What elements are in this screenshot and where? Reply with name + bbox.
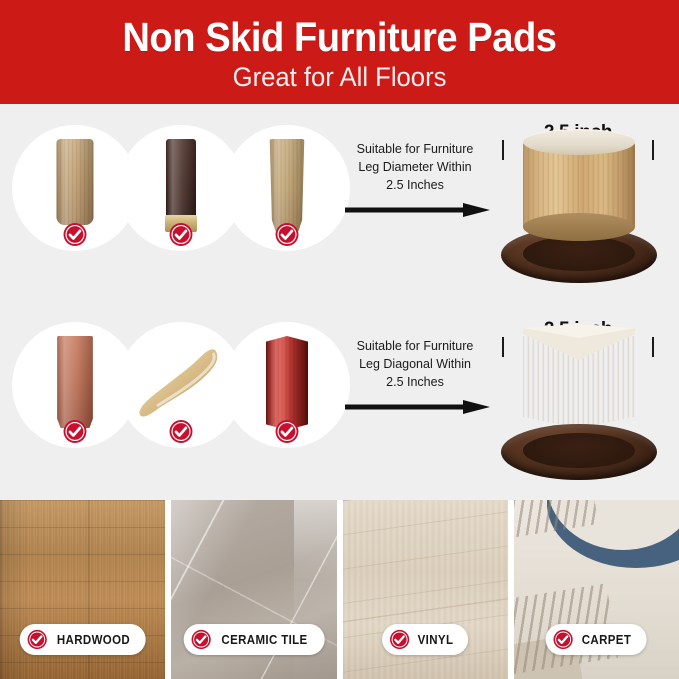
- square-leg-row: Suitable for Furniture Leg Diagonal With…: [0, 316, 679, 491]
- round-leg-row: Suitable for Furniture Leg Diameter With…: [0, 119, 679, 294]
- check-badge-icon: [169, 222, 194, 247]
- round-pad-product-image: 2.5 inch: [483, 119, 673, 289]
- round-leg-caption: Suitable for Furniture Leg Diameter With…: [340, 141, 490, 194]
- square-leg-top-surface: [523, 324, 635, 360]
- check-badge-icon: [275, 419, 300, 444]
- check-badge-icon: [389, 629, 410, 650]
- caption-line: 2.5 Inches: [340, 177, 490, 195]
- floor-label-vinyl: VINYL: [382, 624, 468, 655]
- floor-panel-carpet[interactable]: CARPET: [514, 500, 679, 679]
- floor-types-strip: HARDWOOD CERAMIC TILE VINYL: [0, 500, 679, 679]
- header-banner: Non Skid Furniture Pads Great for All Fl…: [0, 0, 679, 104]
- check-badge-icon: [191, 629, 212, 650]
- caption-line: Leg Diameter Within: [340, 159, 490, 177]
- floor-label-hardwood: HARDWOOD: [19, 624, 146, 655]
- measure-tick-left: [502, 140, 504, 160]
- oak-round-leg-image: [57, 139, 94, 225]
- floor-panel-vinyl[interactable]: VINYL: [343, 500, 508, 679]
- floor-panel-ceramic-tile[interactable]: CERAMIC TILE: [171, 500, 336, 679]
- leg-thumbnail-deep-red-hex[interactable]: [224, 322, 350, 448]
- caption-line: Suitable for Furniture: [340, 141, 490, 159]
- check-badge-icon: [553, 629, 574, 650]
- page-subtitle: Great for All Floors: [233, 63, 447, 93]
- check-badge-icon: [169, 419, 194, 444]
- caption-line: Suitable for Furniture: [340, 338, 490, 356]
- floor-label-text: CARPET: [582, 633, 631, 647]
- check-badge-icon: [63, 419, 88, 444]
- measure-tick-right: [652, 140, 654, 160]
- measure-tick-right: [652, 337, 654, 357]
- square-leg-caption: Suitable for Furniture Leg Diagonal With…: [340, 338, 490, 391]
- arrow-right-icon: [345, 203, 490, 217]
- floor-label-text: CERAMIC TILE: [221, 633, 307, 647]
- deep-red-hex-leg-image: [266, 336, 308, 430]
- check-badge-icon: [63, 222, 88, 247]
- leg-thumbnail-tapered-oak[interactable]: [224, 125, 350, 251]
- caption-line: Leg Diagonal Within: [340, 356, 490, 374]
- measure-tick-left: [502, 337, 504, 357]
- floor-label-text: VINYL: [418, 633, 454, 647]
- curved-cabriole-leg-image: [135, 344, 227, 430]
- check-badge-icon: [26, 629, 47, 650]
- floor-label-ceramic-tile: CERAMIC TILE: [184, 624, 325, 655]
- floor-label-text: HARDWOOD: [57, 633, 130, 647]
- furniture-pad-disc: [501, 424, 657, 480]
- compatibility-section: Suitable for Furniture Leg Diameter With…: [0, 104, 679, 500]
- arrow-right-icon: [345, 400, 490, 414]
- page-title: Non Skid Furniture Pads: [122, 16, 556, 59]
- check-badge-icon: [275, 222, 300, 247]
- floor-panel-hardwood[interactable]: HARDWOOD: [0, 500, 165, 679]
- tapered-oak-leg-image: [269, 139, 305, 231]
- square-pad-product-image: 2.5 inch: [483, 316, 673, 486]
- round-leg-top-surface: [523, 129, 635, 155]
- caption-line: 2.5 Inches: [340, 374, 490, 392]
- dark-espresso-leg-image: [166, 139, 196, 217]
- floor-label-carpet: CARPET: [546, 624, 647, 655]
- red-brown-square-leg-image: [56, 336, 94, 428]
